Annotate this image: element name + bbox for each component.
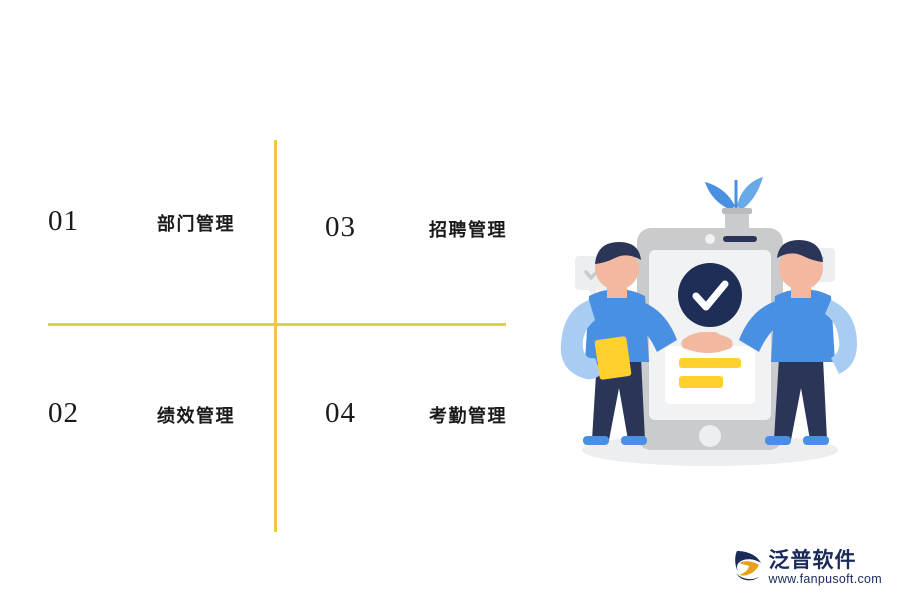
right-person-legs [774,358,827,440]
item-number: 02 [48,397,79,430]
item-label: 部门管理 [157,210,235,236]
phone-top-bar [723,236,757,242]
item-label: 招聘管理 [429,216,507,242]
watermark-logo: 泛普软件 www.fanpusoft.com [733,549,882,586]
phone-speaker [705,234,715,244]
handshake-illustration [545,150,875,480]
watermark-brand: 泛普软件 [769,549,882,571]
item-label: 绩效管理 [157,402,235,428]
item-label: 考勤管理 [429,402,507,428]
item-number: 03 [325,211,356,244]
screen-card-bar-2 [679,376,723,388]
screen-card [665,346,755,404]
phone-home-button [699,425,721,447]
right-person-torso [771,289,835,362]
left-person-shoe-2 [621,436,647,445]
horizontal-divider [48,323,506,326]
vertical-divider [274,140,277,532]
slide-canvas: 01 部门管理 02 绩效管理 03 招聘管理 04 考勤管理 [0,0,900,600]
check-circle-icon [678,263,742,327]
right-person-shoe-2 [803,436,829,445]
quadrant-item-01[interactable]: 01 部门管理 [48,205,235,238]
item-number: 04 [325,397,356,430]
left-person-shoe-1 [583,436,609,445]
plant-icon [705,177,763,230]
screen-card-bar-1 [679,358,741,368]
right-person-shoe-1 [765,436,791,445]
fanpu-logo-icon [733,549,763,583]
left-person-card [594,336,631,380]
item-number: 01 [48,205,79,238]
quadrant-item-02[interactable]: 02 绩效管理 [48,397,235,430]
quadrant-item-04[interactable]: 04 考勤管理 [325,397,507,430]
left-person-neck [607,286,627,298]
watermark-url: www.fanpusoft.com [769,573,882,586]
quadrant-item-03[interactable]: 03 招聘管理 [325,211,507,244]
right-person-neck [791,286,811,298]
